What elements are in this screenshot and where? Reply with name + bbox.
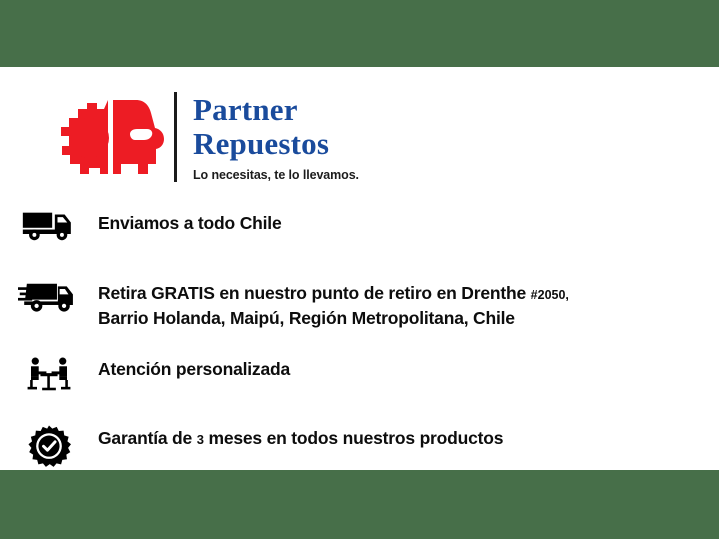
delivery-truck-icon (18, 210, 80, 242)
feature-text-warranty: Garantía de 3 meses en todos nuestros pr… (98, 425, 658, 451)
warranty-months-number: 3 (197, 432, 204, 447)
banner-page: Partner Repuestos Lo necesitas, te lo ll… (0, 0, 719, 539)
brand-name-line-1: Partner (193, 93, 359, 127)
people-at-table-icon (18, 356, 80, 392)
feature-row-shipping: Enviamos a todo Chile (0, 210, 719, 254)
feature-row-warranty: Garantía de 3 meses en todos nuestros pr… (0, 425, 719, 469)
feature-row-pickup: Retira GRATIS en nuestro punto de retiro… (0, 280, 719, 330)
pickup-text-line2: Barrio Holanda, Maipú, Región Metropolit… (98, 308, 515, 328)
top-green-band (0, 0, 719, 67)
brand-tagline: Lo necesitas, te lo llevamos. (193, 168, 359, 182)
logo-divider (174, 92, 177, 182)
warranty-text-before: Garantía de (98, 428, 192, 448)
fast-delivery-truck-icon (18, 280, 80, 314)
feature-text-shipping: Enviamos a todo Chile (98, 210, 658, 235)
brand-text-block: Partner Repuestos Lo necesitas, te lo ll… (193, 93, 359, 182)
feature-text-pickup: Retira GRATIS en nuestro punto de retiro… (98, 280, 658, 330)
warranty-text-after: meses en todos nuestros productos (208, 428, 503, 448)
brand-logo: Partner Repuestos Lo necesitas, te lo ll… (56, 92, 359, 182)
bottom-green-band (0, 470, 719, 539)
features-list: Enviamos a todo Chile (0, 208, 719, 462)
pickup-text-number: #2050, (531, 288, 569, 302)
feature-text-attention: Atención personalizada (98, 356, 658, 381)
brand-name-line-2: Repuestos (193, 127, 359, 161)
pickup-text-main: Retira GRATIS en nuestro punto de retiro… (98, 283, 526, 303)
check-badge-icon (18, 425, 80, 469)
gear-car-logo-icon (56, 94, 168, 180)
feature-row-attention: Atención personalizada (0, 356, 719, 400)
